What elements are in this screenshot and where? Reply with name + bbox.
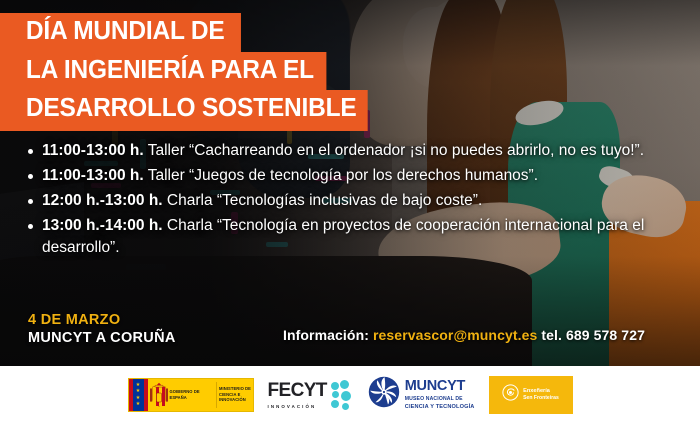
ministerio-label: MINISTERIO DE CIENCIA E INNOVACIÓN [219, 386, 265, 403]
fecyt-molecule-icon [331, 380, 354, 410]
bullet-icon [28, 174, 33, 179]
muncyt-subtitle-2: CIENCIA Y TECNOLOGÍA [405, 404, 475, 410]
esf-spiral-icon [502, 384, 519, 406]
schedule-time: 11:00-13:00 h. [42, 167, 144, 184]
title-line-3: DESARROLLO SOSTENIBLE [0, 90, 368, 131]
contact-phone: tel. 689 578 727 [541, 327, 645, 343]
gobierno-de-espana-logo: ★★★★ GOBIERNO DE ESPAÑA [128, 378, 254, 412]
list-item: 11:00-13:00 h. Taller “Cacharreando en e… [26, 140, 656, 162]
spain-flag-strip-icon: ★★★★ [129, 379, 148, 411]
list-item: 11:00-13:00 h. Taller “Juegos de tecnolo… [26, 165, 656, 187]
date-venue-block: 4 DE MARZO MUNCYT A CORUÑA [28, 311, 176, 347]
muncyt-spiral-icon [368, 376, 400, 413]
fecyt-name: FECYT [268, 381, 327, 400]
contact-email[interactable]: reservascor@muncyt.es [373, 327, 537, 343]
muncyt-subtitle-1: MUSEO NACIONAL DE [405, 396, 475, 402]
footer-logo-bar: ★★★★ GOBIERNO DE ESPAÑA [0, 366, 700, 423]
bullet-icon [28, 199, 33, 204]
muncyt-logo: MUNCYT MUSEO NACIONAL DE CIENCIA Y TECNO… [368, 378, 475, 412]
esf-line-1: Enxeñería [523, 388, 559, 395]
schedule-time: 11:00-13:00 h. [42, 142, 144, 159]
spain-coat-of-arms-icon [148, 379, 170, 411]
list-item: 12:00 h.-13:00 h. Charla “Tecnologías in… [26, 190, 656, 212]
esf-line-2: Sen Fronteiras [523, 395, 559, 401]
info-label: Información: [283, 327, 369, 343]
contact-info: Información: reservascor@muncyt.es tel. … [283, 327, 645, 343]
title-line-2: LA INGENIERÍA PARA EL [0, 52, 326, 91]
fecyt-tagline: INNOVACIÓN [268, 404, 327, 409]
bullet-icon [28, 149, 33, 154]
schedule-time: 12:00 h.-13:00 h. [42, 192, 163, 209]
gobierno-label: GOBIERNO DE ESPAÑA [170, 389, 216, 400]
title-line-1: DÍA MUNDIAL DE [0, 13, 241, 52]
muncyt-name: MUNCYT [405, 379, 475, 394]
schedule-text: Taller “Juegos de tecnología por los der… [144, 167, 538, 184]
schedule-list: 11:00-13:00 h. Taller “Cacharreando en e… [26, 140, 656, 262]
event-venue: MUNCYT A CORUÑA [28, 329, 176, 347]
schedule-text: Taller “Cacharreando en el ordenador ¡si… [144, 142, 644, 159]
list-item: 13:00 h.-14:00 h. Charla “Tecnología en … [26, 215, 656, 259]
enxeneria-sen-fronteiras-logo: Enxeñería Sen Fronteiras [489, 376, 573, 414]
poster-title: DÍA MUNDIAL DE LA INGENIERÍA PARA EL DES… [0, 13, 383, 131]
event-poster: DÍA MUNDIAL DE LA INGENIERÍA PARA EL DES… [0, 0, 700, 423]
event-date: 4 DE MARZO [28, 311, 176, 329]
schedule-text: Charla “Tecnologías inclusivas de bajo c… [163, 192, 483, 209]
schedule-time: 13:00 h.-14:00 h. [42, 217, 163, 234]
bullet-icon [28, 224, 33, 229]
fecyt-logo: FECYT INNOVACIÓN [268, 378, 354, 412]
